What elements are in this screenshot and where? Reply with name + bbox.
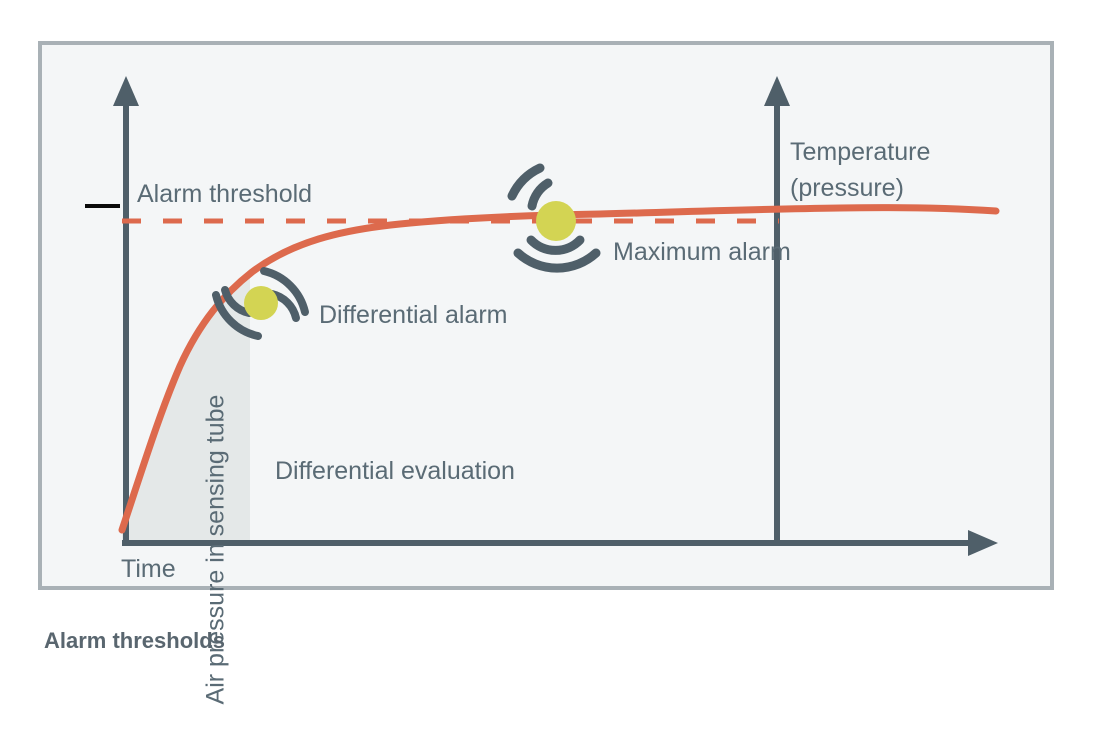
temperature-axis-label-line2: (pressure): [790, 174, 904, 202]
figure-container: Alarm threshold Differential alarm Maxim…: [0, 0, 1098, 688]
alarm-threshold-label: Alarm threshold: [137, 178, 312, 211]
maximum-alarm-label: Maximum alarm: [613, 236, 791, 269]
figure-caption: Alarm thresholds: [44, 628, 225, 654]
y-axis-label: Air pressure in sensing tube: [202, 370, 231, 730]
time-axis-label: Time: [121, 553, 176, 586]
figure-frame: [38, 41, 1054, 590]
differential-alarm-label: Differential alarm: [319, 299, 508, 332]
differential-evaluation-label: Differential evaluation: [275, 455, 515, 488]
temperature-axis-label: Temperature(pressure): [790, 134, 930, 206]
temperature-axis-label-line1: Temperature: [790, 138, 930, 166]
y-axis-label-wrapper: Air pressure in sensing tube: [100, 180, 132, 550]
